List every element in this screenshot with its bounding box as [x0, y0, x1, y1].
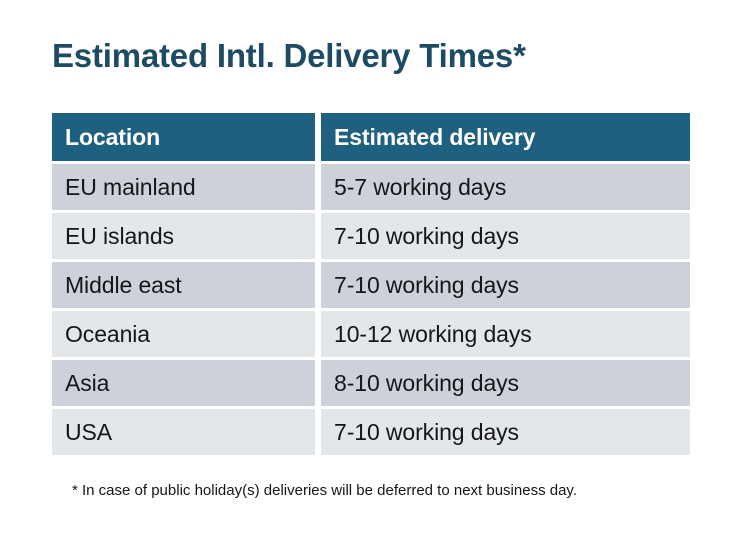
cell-location: Middle east [52, 262, 315, 308]
table-row: USA 7-10 working days [52, 409, 690, 455]
table-row: EU mainland 5-7 working days [52, 164, 690, 210]
cell-location: EU islands [52, 213, 315, 259]
cell-location: USA [52, 409, 315, 455]
cell-location: Asia [52, 360, 315, 406]
cell-estimated-delivery: 5-7 working days [321, 164, 690, 210]
cell-estimated-delivery: 10-12 working days [321, 311, 690, 357]
delivery-times-table: Location Estimated delivery EU mainland … [52, 113, 690, 455]
column-header-location: Location [52, 113, 315, 161]
cell-estimated-delivery: 7-10 working days [321, 409, 690, 455]
cell-estimated-delivery: 7-10 working days [321, 262, 690, 308]
table-header-row: Location Estimated delivery [52, 113, 690, 161]
cell-estimated-delivery: 7-10 working days [321, 213, 690, 259]
footnote: * In case of public holiday(s) deliverie… [72, 481, 577, 501]
delivery-times-card: Estimated Intl. Delivery Times* Location… [0, 0, 745, 536]
table-row: Middle east 7-10 working days [52, 262, 690, 308]
cell-location: EU mainland [52, 164, 315, 210]
column-header-estimated-delivery: Estimated delivery [321, 113, 690, 161]
page-title: Estimated Intl. Delivery Times* [52, 36, 526, 76]
table-row: Asia 8-10 working days [52, 360, 690, 406]
cell-location: Oceania [52, 311, 315, 357]
cell-estimated-delivery: 8-10 working days [321, 360, 690, 406]
table-row: EU islands 7-10 working days [52, 213, 690, 259]
table-row: Oceania 10-12 working days [52, 311, 690, 357]
